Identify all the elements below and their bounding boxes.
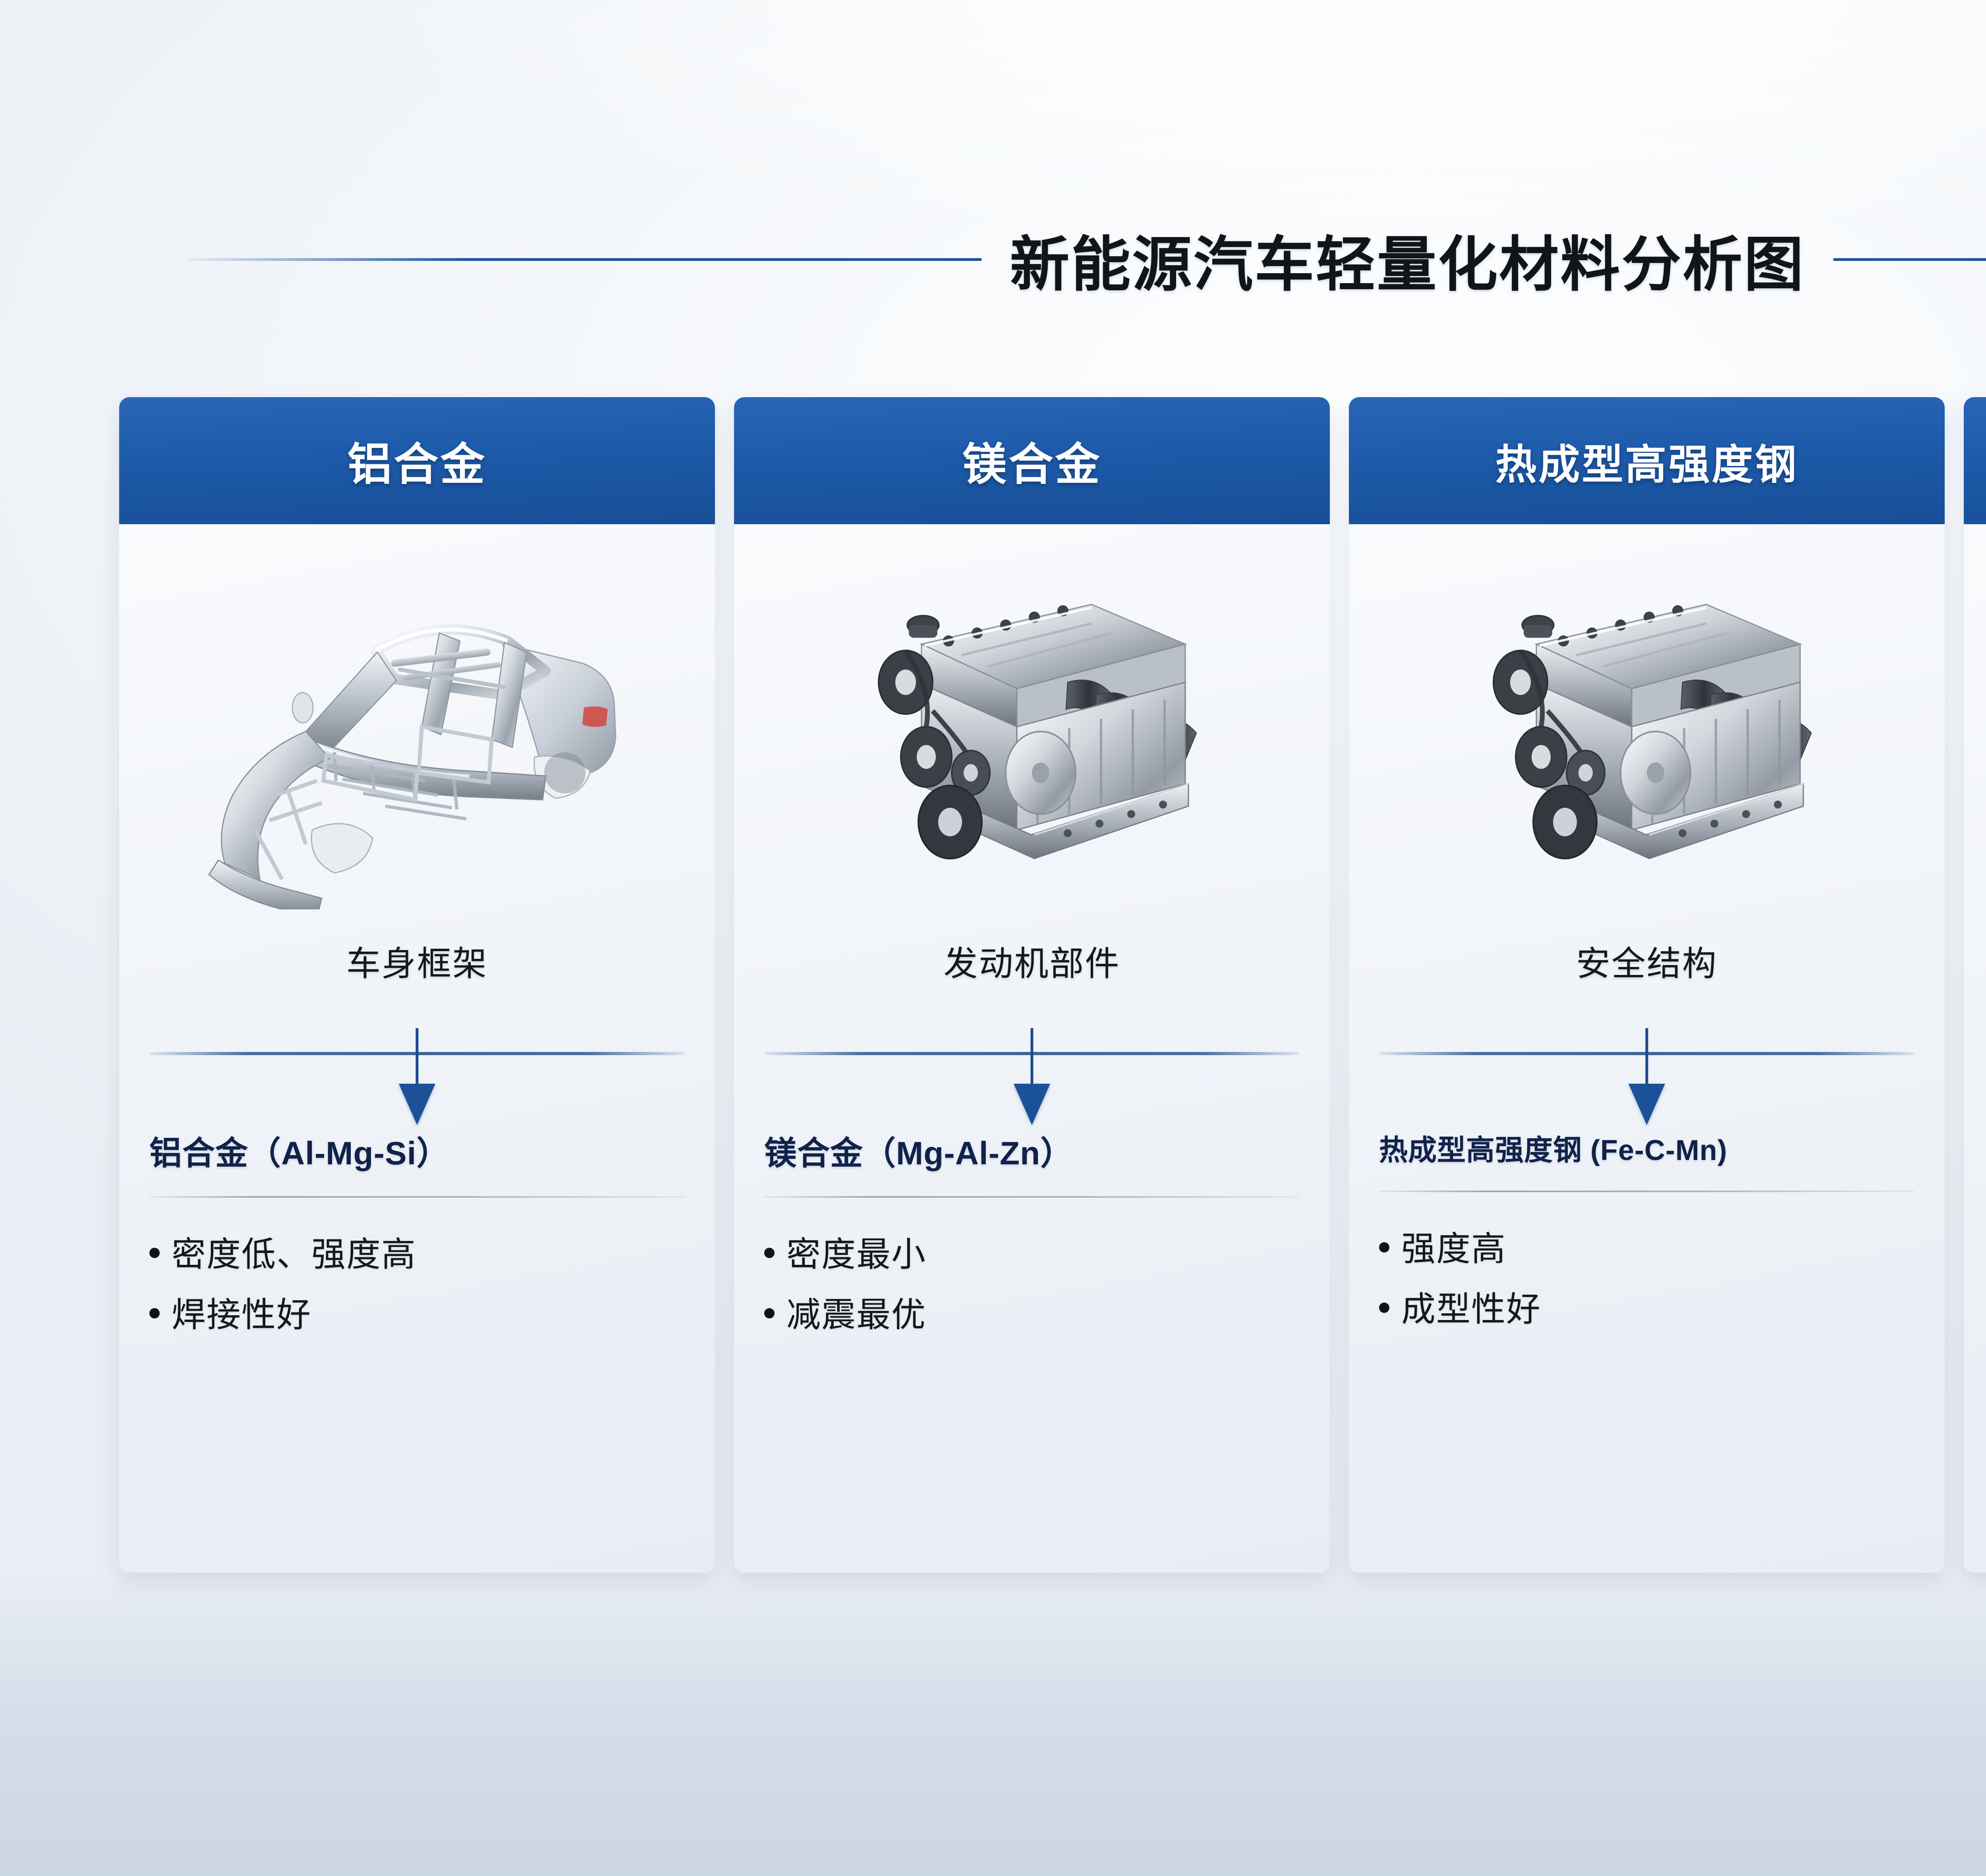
arrow-head <box>1014 1084 1050 1125</box>
card-body-aluminum: 车身框架 铝合金（Al-Mg-Si） 密度低、强度高 焊接性好 <box>119 524 715 1573</box>
card-header-label: 镁合金 <box>962 428 1102 493</box>
down-arrow-icon <box>1379 1023 1915 1123</box>
bullet-dot <box>764 1248 775 1258</box>
top-glow <box>0 0 1986 357</box>
property-list: 密度最小 减震最优 <box>764 1230 926 1351</box>
material-formula: 铝合金（Al-Mg-Si） <box>149 1127 450 1174</box>
bullet-dot <box>1379 1242 1389 1253</box>
material-card-aluminum[interactable]: 铝合金 <box>119 397 715 1573</box>
list-item-label: 成型性好 <box>1401 1285 1541 1334</box>
page-title-row: 新能源汽车轻量化材料分析图 <box>0 216 1986 303</box>
list-item: 密度最小 <box>764 1230 926 1279</box>
card-header-aluminum: 铝合金 <box>119 397 715 524</box>
formula-rule <box>1379 1191 1915 1192</box>
list-item-label: 减震最优 <box>786 1291 926 1339</box>
list-item: 成型性好 <box>1379 1285 1541 1334</box>
list-item: 密度低、强度高 <box>149 1230 416 1279</box>
list-item: 减震最优 <box>764 1291 926 1339</box>
bullet-dot <box>764 1308 775 1318</box>
floor-gradient <box>0 1574 1986 1876</box>
list-item-label: 强度高 <box>1401 1225 1506 1273</box>
formula-rule <box>149 1196 685 1198</box>
arrow-shaft <box>1031 1028 1034 1088</box>
material-card-magnesium[interactable]: 镁合金 <box>734 397 1330 1573</box>
property-list: 密度低、强度高 焊接性好 <box>149 1230 416 1351</box>
card-header-label: 热成型高强度钢 <box>1495 431 1798 491</box>
list-item: 强度高 <box>1379 1225 1541 1273</box>
page-title: 新能源汽车轻量化材料分析图 <box>982 216 1833 303</box>
list-item: 焊接性好 <box>149 1291 416 1339</box>
arrow-shaft <box>416 1028 419 1088</box>
card-header-hot-formed-steel: 热成型高强度钢 <box>1349 397 1945 524</box>
engine-block-image <box>1379 524 1915 953</box>
card-row: 铝合金 <box>119 397 1986 1573</box>
card-header-label: 铝合金 <box>348 428 487 493</box>
card-body-spectrometer: 快速检测材料元素成分，确保材料性能符合设计要求 <box>1964 524 1986 1573</box>
down-arrow-icon <box>149 1023 685 1123</box>
material-formula: 热成型高强度钢 (Fe-C-Mn) <box>1379 1127 1727 1168</box>
title-rule-right <box>1833 258 1986 261</box>
bullet-dot <box>149 1308 160 1318</box>
list-item-label: 焊接性好 <box>172 1291 311 1339</box>
arrow-head <box>399 1084 435 1125</box>
formula-rule <box>764 1196 1300 1198</box>
list-item-label: 密度低、强度高 <box>172 1230 416 1279</box>
title-rule-left <box>187 258 982 261</box>
arrow-head <box>1629 1084 1665 1125</box>
spectrometer-card[interactable]: 直读光谱仪作用 快速检测材料元素成分，确保材料性能符合设计要求 <box>1964 397 1986 1573</box>
property-list: 强度高 成型性好 <box>1379 1225 1541 1345</box>
card-body-magnesium: 发动机部件 镁合金（Mg-Al-Zn） 密度最小 减震最优 <box>734 524 1330 1573</box>
card-header-spectrometer: 直读光谱仪作用 <box>1964 397 1986 524</box>
engine-block-image <box>764 524 1300 953</box>
card-header-magnesium: 镁合金 <box>734 397 1330 524</box>
bullet-dot <box>1379 1303 1389 1313</box>
car-body-frame-image <box>149 524 685 953</box>
arrow-shaft <box>1646 1028 1648 1088</box>
bullet-dot <box>149 1248 160 1258</box>
material-card-hot-formed-steel[interactable]: 热成型高强度钢 <box>1349 397 1945 1573</box>
material-formula: 镁合金（Mg-Al-Zn） <box>764 1127 1073 1174</box>
down-arrow-icon <box>764 1023 1300 1123</box>
list-item-label: 密度最小 <box>786 1230 926 1279</box>
card-body-hot-formed-steel: 安全结构 热成型高强度钢 (Fe-C-Mn) 强度高 成型性好 <box>1349 524 1945 1573</box>
